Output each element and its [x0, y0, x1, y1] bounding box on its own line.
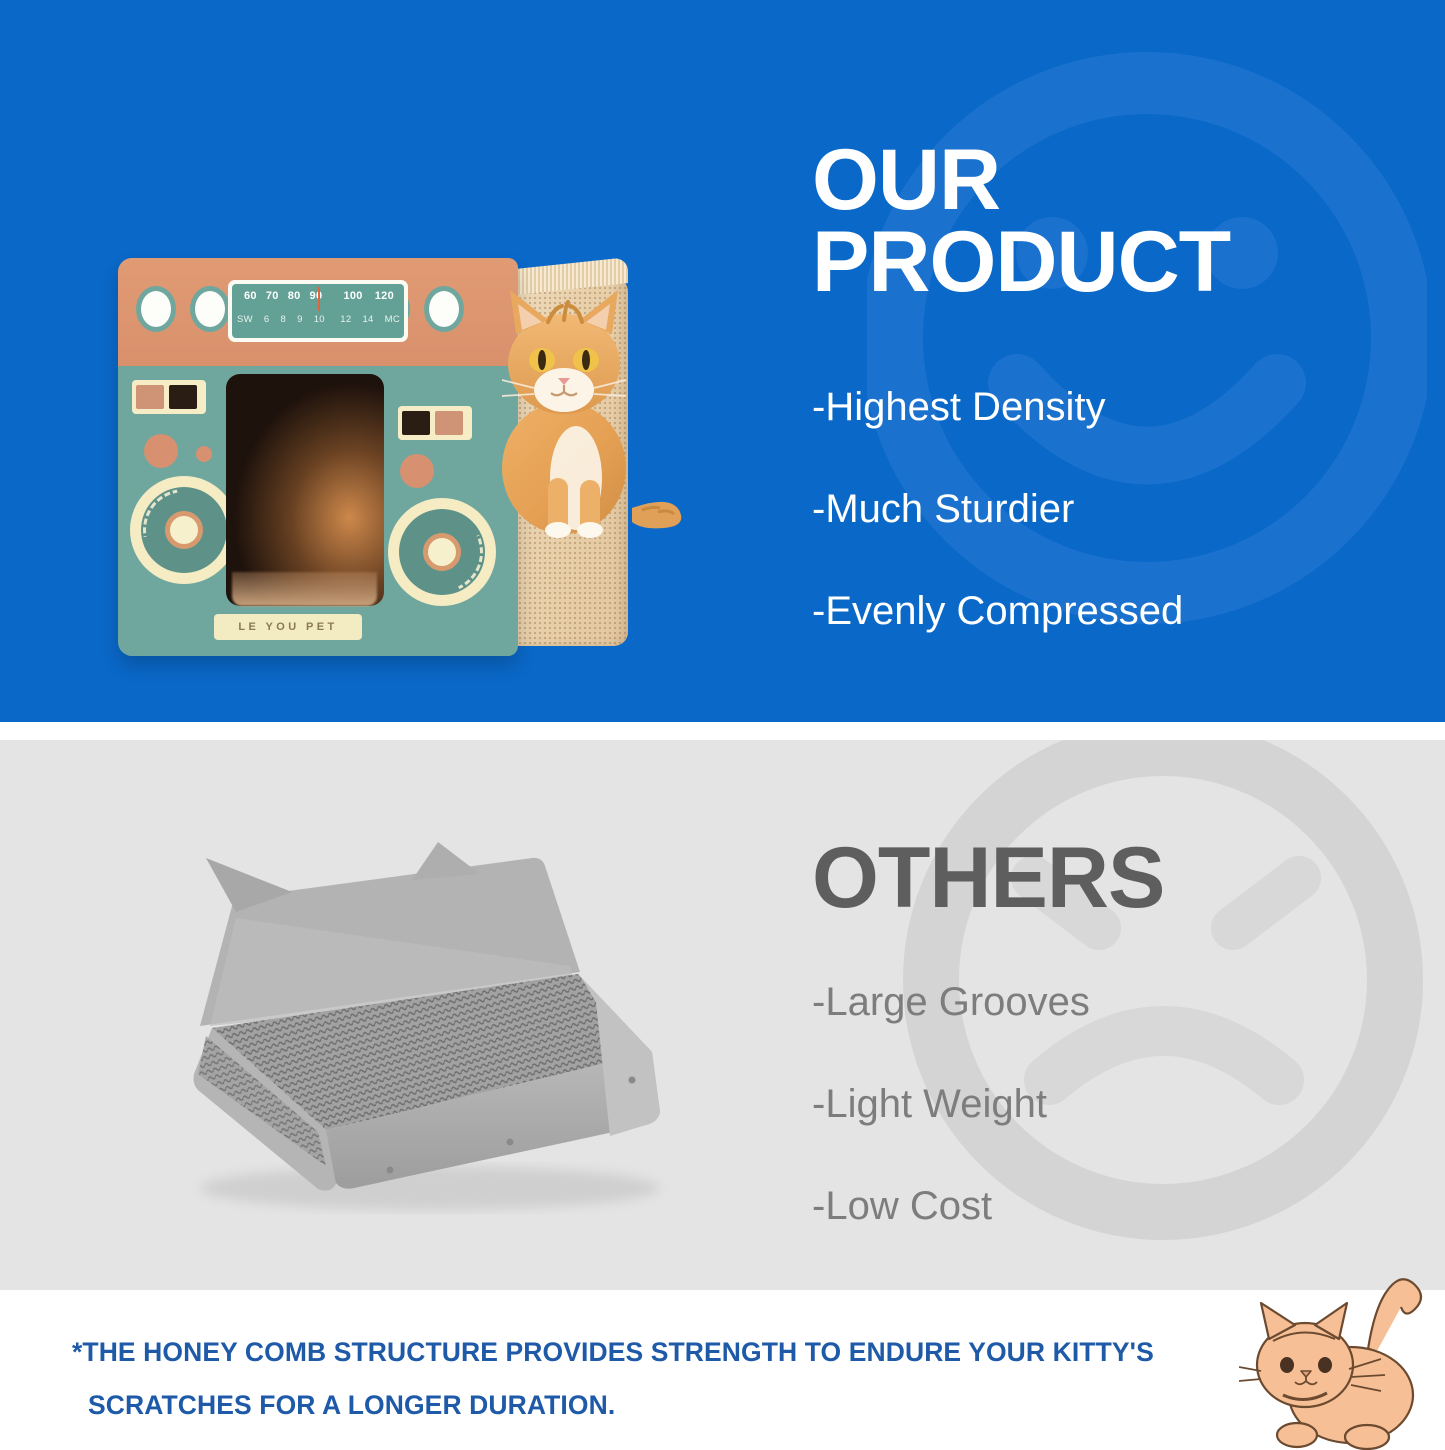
dial-tick: 100: [343, 290, 362, 302]
footer-note-line-1: *THE HONEY COMB STRUCTURE PROVIDES STREN…: [72, 1326, 1202, 1379]
dial-tick: 12: [340, 314, 351, 325]
orange-tabby-cat: [436, 272, 706, 542]
our-product-headline: OUR PRODUCT: [812, 140, 1412, 303]
our-product-text-block: OUR PRODUCT -Highest Density -Much Sturd…: [812, 140, 1412, 631]
dial-tick: 90: [310, 290, 323, 302]
gray-scratcher-svg: [140, 840, 710, 1220]
our-product-image: 60 70 80 90 100 120: [118, 258, 638, 668]
dial-tick: 6: [264, 314, 270, 325]
dial-tick: 60: [244, 290, 257, 302]
headline-line-1: OUR: [812, 140, 1412, 222]
footer-note-line-2: SCRATCHES FOR A LONGER DURATION.: [72, 1379, 1202, 1432]
others-headline: OTHERS: [812, 838, 1412, 920]
dot-decor: [144, 434, 178, 468]
vent-icon: [132, 380, 206, 414]
dot-decor: [196, 446, 212, 462]
dial-tick: 14: [362, 314, 373, 325]
cartoon-cat-mascot-icon: [1239, 1255, 1439, 1450]
brand-label: LE YOU PET: [214, 614, 362, 640]
bullet-item: -Much Sturdier: [812, 489, 1412, 529]
knob-icon: [190, 286, 230, 332]
others-text-block: OTHERS -Large Grooves -Light Weight -Low…: [812, 838, 1412, 1226]
competitor-product-image: [140, 840, 710, 1220]
dial-tick: 10: [314, 314, 325, 325]
bullet-item: -Large Grooves: [812, 982, 1412, 1022]
dial-tick: MC: [385, 314, 400, 325]
dial-tick: 8: [281, 314, 287, 325]
dial-tick: 9: [297, 314, 303, 325]
infographic-root: 60 70 80 90 100 120: [0, 0, 1445, 1444]
bullet-item: -Highest Density: [812, 387, 1412, 427]
knob-icon: [136, 286, 176, 332]
dial-tick: 80: [288, 290, 301, 302]
dial-tick: 120: [375, 290, 394, 302]
cat-house-opening: [226, 374, 384, 606]
dot-decor: [400, 454, 434, 488]
our-product-bullet-list: -Highest Density -Much Sturdier -Evenly …: [812, 387, 1412, 631]
speaker-icon: [130, 476, 238, 584]
our-product-panel: 60 70 80 90 100 120: [0, 0, 1445, 722]
radio-dial: 60 70 80 90 100 120: [228, 280, 408, 342]
others-bullet-list: -Large Grooves -Light Weight -Low Cost: [812, 982, 1412, 1226]
bullet-item: -Evenly Compressed: [812, 591, 1412, 631]
headline-line-2: PRODUCT: [812, 222, 1412, 304]
dial-tick: SW: [237, 314, 253, 325]
footer-note: *THE HONEY COMB STRUCTURE PROVIDES STREN…: [72, 1326, 1202, 1432]
bullet-item: -Low Cost: [812, 1186, 1412, 1226]
bullet-item: -Light Weight: [812, 1084, 1412, 1124]
others-panel: OTHERS -Large Grooves -Light Weight -Low…: [0, 740, 1445, 1290]
dial-tick: 70: [266, 290, 279, 302]
